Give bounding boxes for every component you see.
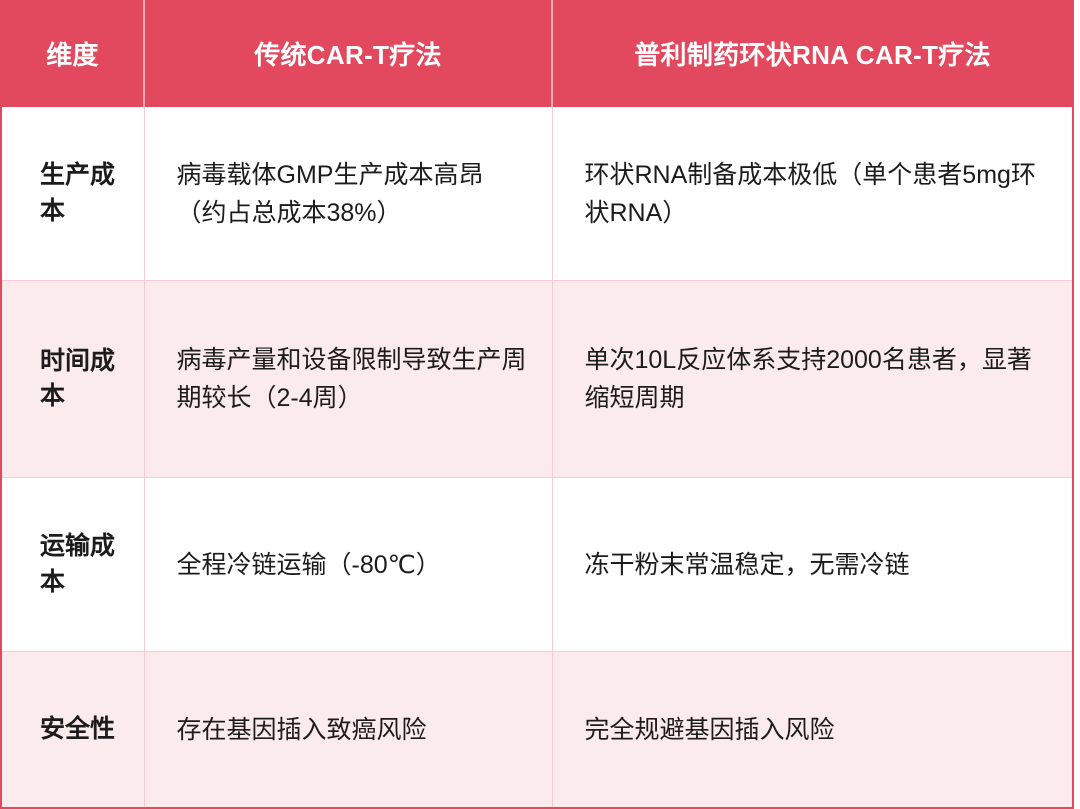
row-pulike-value: 冻干粉末常温稳定，无需冷链	[552, 478, 1073, 652]
table-header: 维度 传统CAR-T疗法 普利制药环状RNA CAR-T疗法	[1, 0, 1073, 107]
row-dimension-label: 安全性	[1, 652, 144, 809]
table-row: 安全性 存在基因插入致癌风险 完全规避基因插入风险	[1, 652, 1073, 809]
row-pulike-value: 完全规避基因插入风险	[552, 652, 1073, 809]
table-row: 运输成本 全程冷链运输（-80℃） 冻干粉末常温稳定，无需冷链	[1, 478, 1073, 652]
row-traditional-value: 病毒产量和设备限制导致生产周期较长（2-4周）	[144, 281, 552, 478]
column-header-dimension: 维度	[1, 0, 144, 107]
header-row: 维度 传统CAR-T疗法 普利制药环状RNA CAR-T疗法	[1, 0, 1073, 107]
row-dimension-label: 生产成本	[1, 107, 144, 281]
row-traditional-value: 病毒载体GMP生产成本高昂（约占总成本38%）	[144, 107, 552, 281]
row-dimension-label: 时间成本	[1, 281, 144, 478]
row-pulike-value: 单次10L反应体系支持2000名患者，显著缩短周期	[552, 281, 1073, 478]
comparison-table: 维度 传统CAR-T疗法 普利制药环状RNA CAR-T疗法 生产成本 病毒载体…	[0, 0, 1074, 809]
row-pulike-value: 环状RNA制备成本极低（单个患者5mg环状RNA）	[552, 107, 1073, 281]
row-traditional-value: 全程冷链运输（-80℃）	[144, 478, 552, 652]
column-header-pulike-circrna-cart: 普利制药环状RNA CAR-T疗法	[552, 0, 1073, 107]
row-traditional-value: 存在基因插入致癌风险	[144, 652, 552, 809]
row-dimension-label: 运输成本	[1, 478, 144, 652]
table-body: 生产成本 病毒载体GMP生产成本高昂（约占总成本38%） 环状RNA制备成本极低…	[1, 107, 1073, 808]
column-header-traditional-cart: 传统CAR-T疗法	[144, 0, 552, 107]
table-row: 生产成本 病毒载体GMP生产成本高昂（约占总成本38%） 环状RNA制备成本极低…	[1, 107, 1073, 281]
table-row: 时间成本 病毒产量和设备限制导致生产周期较长（2-4周） 单次10L反应体系支持…	[1, 281, 1073, 478]
